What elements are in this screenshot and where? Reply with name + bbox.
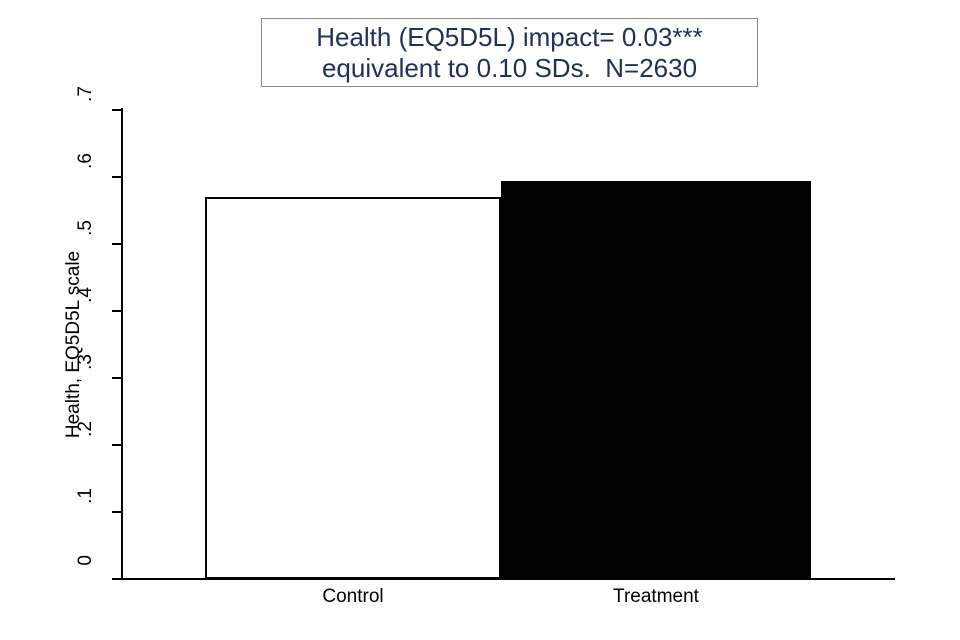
y-tick-07	[112, 109, 122, 111]
y-tick-05	[112, 176, 122, 178]
y-tick-0	[112, 578, 122, 580]
chart-title-line-1: Health (EQ5D5L) impact= 0.03***	[316, 22, 703, 53]
x-axis-label-control: Control	[205, 586, 501, 608]
y-tick-0.1	[112, 511, 122, 513]
y-tick-02	[112, 377, 122, 379]
chart-title-box: Health (EQ5D5L) impact= 0.03*** equivale…	[261, 18, 758, 87]
bar-treatment[interactable]	[501, 181, 811, 579]
bar-control[interactable]	[205, 197, 501, 579]
y-tick-03	[112, 310, 122, 312]
y-tick-01	[112, 444, 122, 446]
y-axis-line	[121, 108, 123, 580]
x-axis-label-treatment: Treatment	[501, 586, 811, 608]
y-axis-title: Health, EQ5D5L scale	[62, 110, 86, 579]
y-tick-04	[112, 243, 122, 245]
chart-title-line-2: equivalent to 0.10 SDs. N=2630	[322, 53, 697, 84]
chart-figure: Health (EQ5D5L) impact= 0.03*** equivale…	[0, 0, 960, 640]
